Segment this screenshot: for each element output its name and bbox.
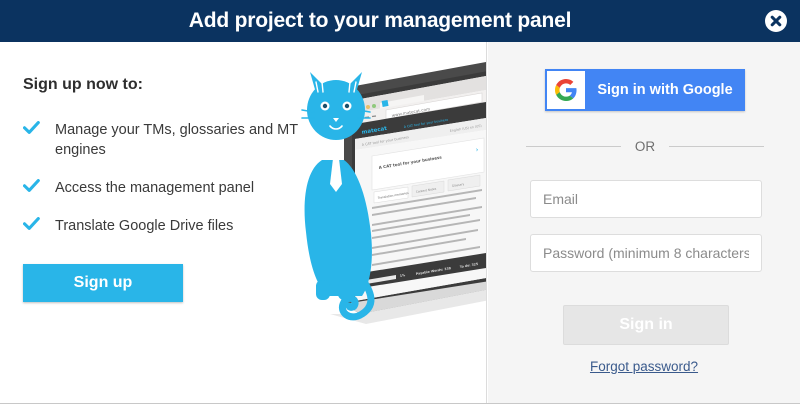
benefit-text: Manage your TMs, glossaries and MT engin… <box>55 122 298 158</box>
svg-text:A CAT tool for your business: A CAT tool for your business <box>404 118 449 129</box>
checkmark-icon <box>23 217 40 231</box>
page-title: Add project to your management panel <box>0 0 760 42</box>
signup-panel: Sign up now to: Manage your TMs, glossar… <box>0 42 487 403</box>
browser-chrome: www.matecat.com <box>355 76 486 124</box>
svg-text:A CAT tool for your business: A CAT tool for your business <box>378 154 442 170</box>
forgot-password-link[interactable]: Forgot password? <box>488 359 800 374</box>
app-header: matecat A CAT tool for your business <box>355 102 486 139</box>
benefits-list: Manage your TMs, glossaries and MT engin… <box>23 120 333 254</box>
sign-in-with-google-button[interactable]: Sign in with Google <box>545 69 745 111</box>
modal-titlebar: Add project to your management panel <box>0 0 800 42</box>
divider-line-right <box>669 146 764 147</box>
list-item: Manage your TMs, glossaries and MT engin… <box>23 120 333 160</box>
svg-text:www.matecat.com: www.matecat.com <box>391 106 430 118</box>
sign-up-button[interactable]: Sign up <box>23 264 183 302</box>
list-item: Translate Google Drive files <box>23 216 333 236</box>
laptop-screen-frame <box>344 62 487 314</box>
svg-text:1%: 1% <box>400 273 407 278</box>
checkmark-icon <box>23 121 40 135</box>
svg-text:matecat: matecat <box>361 126 387 136</box>
svg-text:A CAT tool for your business: A CAT tool for your business <box>362 135 410 147</box>
svg-text:Translation memories: Translation memories <box>377 191 410 200</box>
google-button-label: Sign in with Google <box>585 69 745 111</box>
benefit-text: Translate Google Drive files <box>55 218 233 234</box>
svg-text:To do: 325: To do: 325 <box>460 262 479 269</box>
modal-body: Sign up now to: Manage your TMs, glossar… <box>0 42 800 403</box>
benefit-text: Access the management panel <box>55 180 254 196</box>
signup-heading: Sign up now to: <box>23 76 143 94</box>
svg-text:Context Notes: Context Notes <box>416 187 437 194</box>
content-lines <box>372 189 482 266</box>
add-project-modal: Add project to your management panel Sig… <box>0 0 800 404</box>
app-tabs: Translation memories Context Notes Gloss… <box>374 175 480 203</box>
password-field[interactable] <box>530 234 762 272</box>
divider-label: OR <box>621 139 669 154</box>
or-divider: OR <box>526 137 764 155</box>
svg-text:Payable Words: 338: Payable Words: 338 <box>416 266 453 276</box>
email-field[interactable] <box>530 180 762 218</box>
svg-text:Glossary: Glossary <box>452 182 465 188</box>
google-g-icon <box>547 71 585 109</box>
close-icon[interactable] <box>764 9 788 33</box>
divider-line-left <box>526 146 621 147</box>
svg-text:English (US) en (US): English (US) en (US) <box>450 124 482 133</box>
checkmark-icon <box>23 179 40 193</box>
signin-panel: Sign in with Google OR Sign in Forgot pa… <box>488 42 800 403</box>
list-item: Access the management panel <box>23 178 333 198</box>
sign-in-button[interactable]: Sign in <box>563 305 729 345</box>
svg-text:›: › <box>475 146 479 154</box>
